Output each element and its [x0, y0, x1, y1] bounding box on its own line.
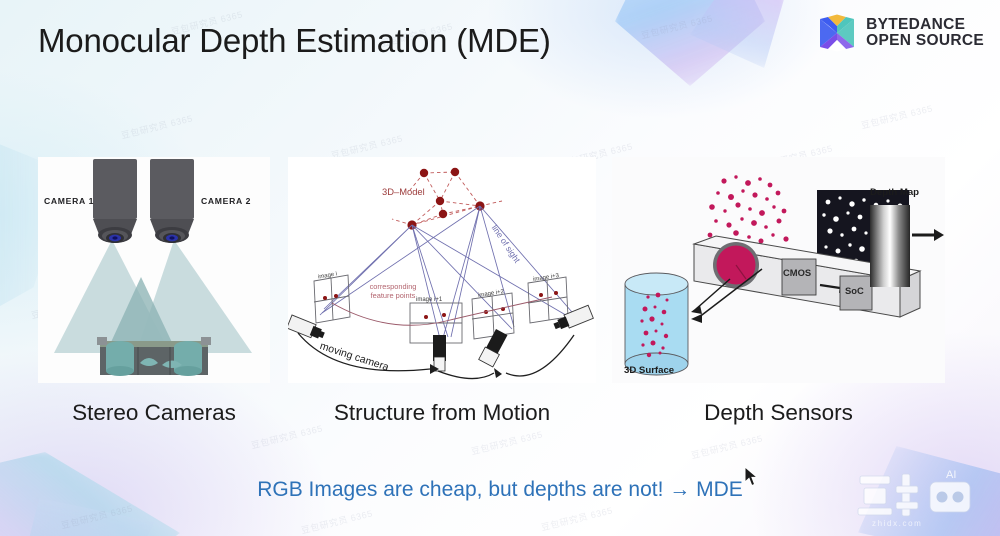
caption-structure-from-motion: Structure from Motion	[288, 400, 596, 426]
panel-stereo-cameras: CAMERA 1 CAMERA 2	[38, 157, 270, 383]
slide-canvas: 豆包研究员 6365豆包研究员 6365豆包研究员 6365豆包研究员 6365…	[0, 0, 1000, 536]
bytedance-logo-icon	[817, 14, 857, 52]
logo-line-1: BYTEDANCE	[866, 17, 984, 33]
soc-label: SoC	[845, 285, 864, 296]
target-object-crate	[97, 337, 211, 376]
crystal-decoration-top	[615, 0, 765, 86]
svg-text:zhidx.com: zhidx.com	[872, 519, 922, 528]
camera2-label: CAMERA 2	[201, 196, 251, 206]
panel-depth-sensors: Depth Map CMOS SoC 3D Surface	[612, 157, 945, 383]
svg-text:AI: AI	[946, 469, 956, 481]
watermark-text: 豆包研究员 6365	[470, 427, 544, 457]
bytedance-open-source-logo: BYTEDANCE OPEN SOURCE	[817, 14, 984, 52]
camera1-body	[93, 159, 137, 219]
watermark-text: 豆包研究员 6365	[860, 101, 934, 131]
watermark-text: 豆包研究员 6365	[540, 503, 614, 533]
3d-surface-label: 3D Surface	[624, 365, 674, 376]
depth-map-label: Depth Map	[870, 187, 919, 198]
watermark-text: 豆包研究员 6365	[640, 11, 714, 41]
cmos-label: CMOS	[783, 267, 811, 278]
watermark-text: 豆包研究员 6365	[690, 431, 764, 461]
stereo-cameras-illustration	[38, 157, 270, 383]
watermark-text: 豆包研究员 6365	[60, 501, 134, 531]
logo-line-2: OPEN SOURCE	[866, 33, 984, 49]
watermark-text: 豆包研究员 6365	[120, 111, 194, 141]
crystal-decoration-bottom-left-secondary	[20, 498, 180, 536]
watermark-text: 豆包研究员 6365	[300, 506, 374, 536]
3d-surface-cylinder	[625, 273, 688, 375]
image-i1-label: image i+1	[416, 297, 442, 303]
camera1-label: CAMERA 1	[44, 196, 94, 206]
panel-structure-from-motion: 3D–Model line of sight corresponding fea…	[288, 157, 596, 383]
page-title: Monocular Depth Estimation (MDE)	[38, 22, 551, 60]
camera2-body	[150, 159, 194, 219]
caption-depth-sensors: Depth Sensors	[612, 400, 945, 426]
model-label: 3D–Model	[382, 186, 425, 197]
depth-map-gradient	[870, 205, 910, 287]
zhidx-watermark-logo: AI zhidx.com	[854, 462, 992, 532]
crystal-decoration-top-secondary	[690, 0, 785, 68]
tagline: RGB Images are cheap, but depths are not…	[0, 478, 1000, 502]
caption-stereo-cameras: Stereo Cameras	[38, 400, 270, 426]
